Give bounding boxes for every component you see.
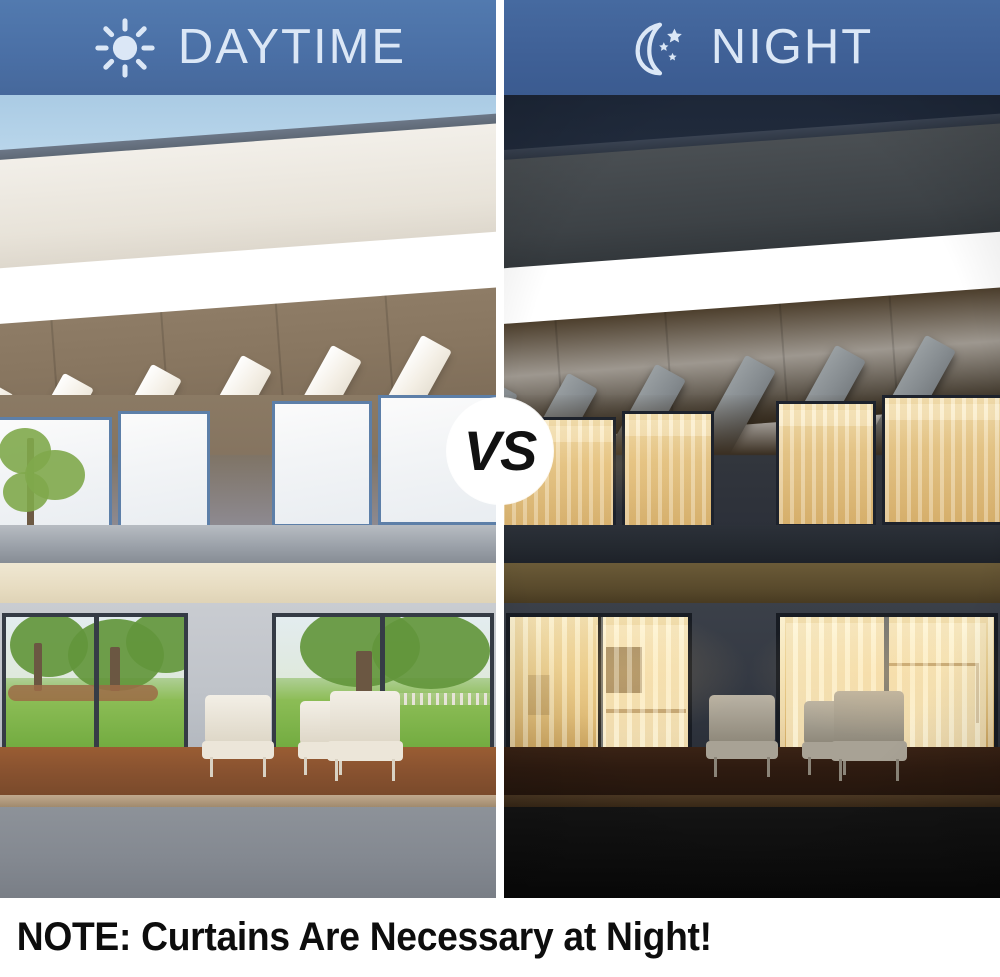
patio-chair [205, 695, 271, 777]
upper-window [0, 417, 112, 535]
sliding-door-left [2, 613, 188, 753]
header-night-label: NIGHT [711, 23, 873, 72]
upper-window [272, 401, 372, 527]
vs-badge: VS [447, 398, 553, 504]
header-night: NIGHT [500, 0, 1000, 95]
patio-chair [834, 691, 904, 781]
upper-window [118, 411, 210, 533]
note-bar: NOTE: Curtains Are Necessary at Night! [0, 898, 1000, 977]
floor-slab-day [0, 525, 496, 565]
header-bar: DAYTIME NIGHT [0, 0, 1000, 95]
patio-chair [330, 691, 400, 781]
upper-window [882, 395, 1000, 525]
header-daytime: DAYTIME [0, 0, 500, 95]
sun-icon [94, 17, 156, 79]
soffit-day [0, 563, 496, 605]
deck-edge-day [0, 795, 496, 807]
floor-slab-night [504, 525, 1000, 565]
night-photo [504, 95, 1000, 898]
daytime-photo [0, 95, 496, 898]
vs-label: VS [464, 423, 537, 479]
upper-window [776, 401, 876, 527]
header-divider [496, 0, 504, 95]
note-text: NOTE: Curtains Are Necessary at Night! [0, 915, 712, 960]
upper-window [622, 411, 714, 533]
patio-chair [709, 695, 775, 777]
foundation-day [0, 807, 496, 898]
sliding-door-left [506, 613, 692, 753]
moon-stars-icon [627, 17, 689, 79]
soffit-night [504, 563, 1000, 605]
foundation-night [504, 807, 1000, 898]
comparison-poster: DAYTIME NIGHT [0, 0, 1000, 977]
header-daytime-label: DAYTIME [178, 23, 406, 72]
deck-edge-night [504, 795, 1000, 807]
